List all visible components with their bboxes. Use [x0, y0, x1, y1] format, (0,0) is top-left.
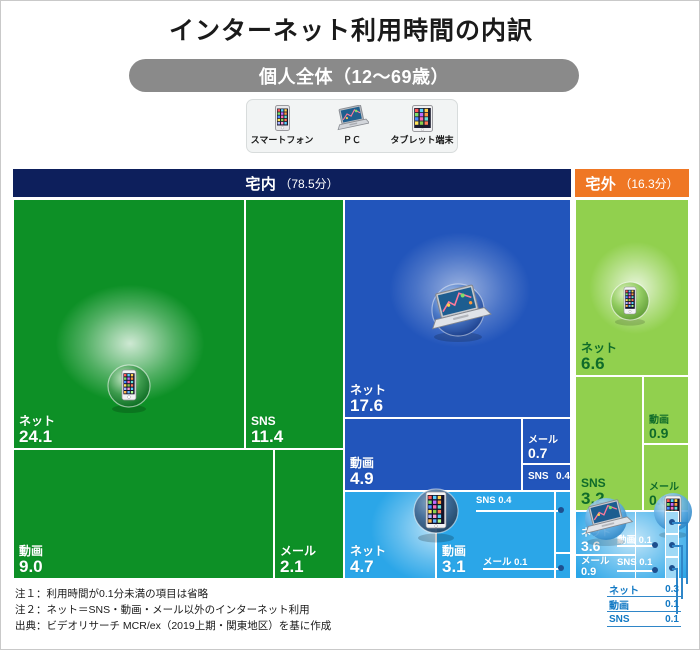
cell-outdoor-smartphone-video[interactable]: 動画 0.9 — [643, 376, 689, 444]
cell-value: 24.1 — [19, 428, 55, 445]
callout-value: 0.4 — [498, 495, 511, 506]
cell-indoor-smartphone-sns[interactable]: SNS 11.4 — [245, 199, 344, 449]
callout-value: 0.1 — [665, 599, 679, 610]
callout-row[interactable]: 動画 0.1 — [607, 597, 681, 612]
callout-label: SNS — [609, 614, 630, 625]
leader-line — [686, 522, 688, 584]
cell-value: 17.6 — [350, 397, 386, 414]
callout-label: SNS — [617, 557, 637, 568]
cell-label: メール — [280, 545, 316, 557]
cell-outdoor-smartphone-sns[interactable]: SNS 3.2 — [575, 376, 643, 511]
cell-outdoor-smartphone-net[interactable]: ネット 6.6 — [575, 199, 689, 376]
outdoor-label: 宅外 — [585, 173, 616, 194]
callout-value: 0.1 — [639, 557, 652, 568]
cell-indoor-pc-video[interactable]: 動画 4.9 — [344, 418, 522, 491]
leader-line — [617, 570, 654, 572]
footnote-source: 出典：ビデオリサーチ MCR/ex（2019上期・関東地区）を基に作成 — [15, 619, 331, 635]
callout-dot — [558, 507, 564, 513]
callout-outdoor-pc-video: 動画 0.1 — [617, 532, 652, 546]
cell-label: 動画 — [19, 545, 43, 557]
cell-indoor-smartphone-video[interactable]: 動画 9.0 — [13, 449, 274, 579]
callout-dot — [558, 565, 564, 571]
cell-value: 0.9 — [581, 567, 610, 578]
cell-value: 0.6 — [649, 493, 679, 507]
section-header-outdoor: 宅外 （16.3分） — [575, 169, 689, 197]
leader-line — [476, 510, 558, 512]
callout-outdoor-pc-sns: SNS 0.1 — [617, 557, 652, 568]
cell-value: 0.9 — [649, 426, 669, 440]
cell-label: SNS — [251, 415, 283, 427]
cell-value: 3.2 — [581, 490, 606, 507]
callout-row[interactable]: SNS 0.1 — [607, 612, 681, 627]
callout-value: 0.3 — [665, 584, 679, 595]
cell-indoor-pc-net[interactable]: ネット 17.6 — [344, 199, 571, 418]
cell-indoor-tablet-sns-sliver[interactable] — [555, 491, 571, 553]
footnote-1: 注１：利用時間が0.1分未満の項目は省略 — [15, 587, 331, 603]
section-header-indoor: 宅内 （78.5分） — [13, 169, 571, 197]
indoor-total: （78.5分） — [279, 175, 338, 192]
callout-indoor-tablet-mail: メール 0.1 — [483, 554, 527, 568]
cell-label: ネット — [350, 384, 386, 396]
callout-row[interactable]: ネット 0.3 — [607, 582, 681, 597]
cell-value: 0.4 — [556, 471, 570, 482]
legend-item-tablet: タブレット端末 — [387, 104, 457, 146]
outdoor-tablet-callout-list: ネット 0.3 動画 0.1 SNS 0.1 — [607, 582, 681, 627]
cell-indoor-smartphone-net[interactable]: ネット 24.1 — [13, 199, 245, 449]
infographic-page: インターネット利用時間の内訳 個人全体（12～69歳） — [0, 0, 700, 650]
cell-value: 2.1 — [280, 558, 316, 575]
cell-label: 動画 — [442, 545, 466, 557]
cell-value: 3.1 — [442, 558, 466, 575]
cell-label: ネット — [19, 415, 55, 427]
cell-label: SNS — [581, 477, 606, 489]
cell-value: 4.7 — [350, 558, 386, 575]
cell-value: 3.6 — [581, 539, 611, 553]
callout-dot — [652, 542, 658, 548]
cell-indoor-smartphone-mail[interactable]: メール 2.1 — [274, 449, 344, 579]
indoor-label: 宅内 — [245, 173, 276, 194]
leader-line — [617, 545, 654, 547]
laptop-icon — [335, 104, 369, 132]
leader-line — [483, 568, 559, 570]
cell-value: 11.4 — [251, 428, 283, 445]
callout-label: SNS — [476, 495, 496, 506]
cell-label: ネット — [350, 545, 386, 557]
cell-value: 9.0 — [19, 558, 43, 575]
cell-indoor-tablet-net[interactable]: ネット 4.7 — [344, 491, 436, 579]
device-legend: スマートフォン ＰＣ — [246, 99, 458, 153]
cell-value: 6.6 — [581, 355, 617, 372]
subtitle-pill: 個人全体（12～69歳） — [129, 59, 579, 92]
page-title: インターネット利用時間の内訳 — [1, 11, 700, 47]
cell-label: ネット — [581, 342, 617, 354]
callout-label: ネット — [609, 582, 639, 597]
cell-indoor-pc-sns[interactable]: SNS 0.4 — [522, 464, 571, 491]
legend-item-smartphone: スマートフォン — [247, 104, 317, 146]
legend-item-pc: ＰＣ — [317, 104, 387, 146]
cell-outdoor-smartphone-mail[interactable]: メール 0.6 — [643, 444, 689, 511]
callout-dot — [652, 567, 658, 573]
cell-value: 0.7 — [528, 446, 558, 460]
cell-value: 4.9 — [350, 470, 374, 487]
tablet-icon — [412, 104, 433, 132]
footnotes: 注１：利用時間が0.1分未満の項目は省略 注２：ネット＝SNS・動画・メール以外… — [15, 587, 331, 635]
leader-line — [672, 522, 687, 524]
subtitle-text: 個人全体（12～69歳） — [259, 63, 449, 89]
leader-line — [681, 545, 683, 599]
legend-label-smartphone: スマートフォン — [251, 133, 314, 146]
callout-label: メール — [483, 557, 512, 568]
legend-label-tablet: タブレット端末 — [390, 133, 453, 146]
callout-label: 動画 — [609, 597, 629, 612]
treemap: ネット 24.1 SNS 11.4 動画 9.0 メール 2.1 — [13, 199, 689, 579]
cell-label: 動画 — [350, 457, 374, 469]
cell-label: SNS — [528, 471, 549, 482]
cell-indoor-pc-mail[interactable]: メール 0.7 — [522, 418, 571, 464]
callout-indoor-tablet-sns: SNS 0.4 — [476, 495, 511, 506]
footnote-2: 注２：ネット＝SNS・動画・メール以外のインターネット利用 — [15, 603, 331, 619]
callout-value: 0.1 — [514, 557, 527, 568]
smartphone-icon — [275, 104, 290, 132]
legend-label-pc: ＰＣ — [343, 133, 361, 146]
callout-value: 0.1 — [665, 614, 679, 625]
outdoor-total: （16.3分） — [619, 175, 678, 192]
